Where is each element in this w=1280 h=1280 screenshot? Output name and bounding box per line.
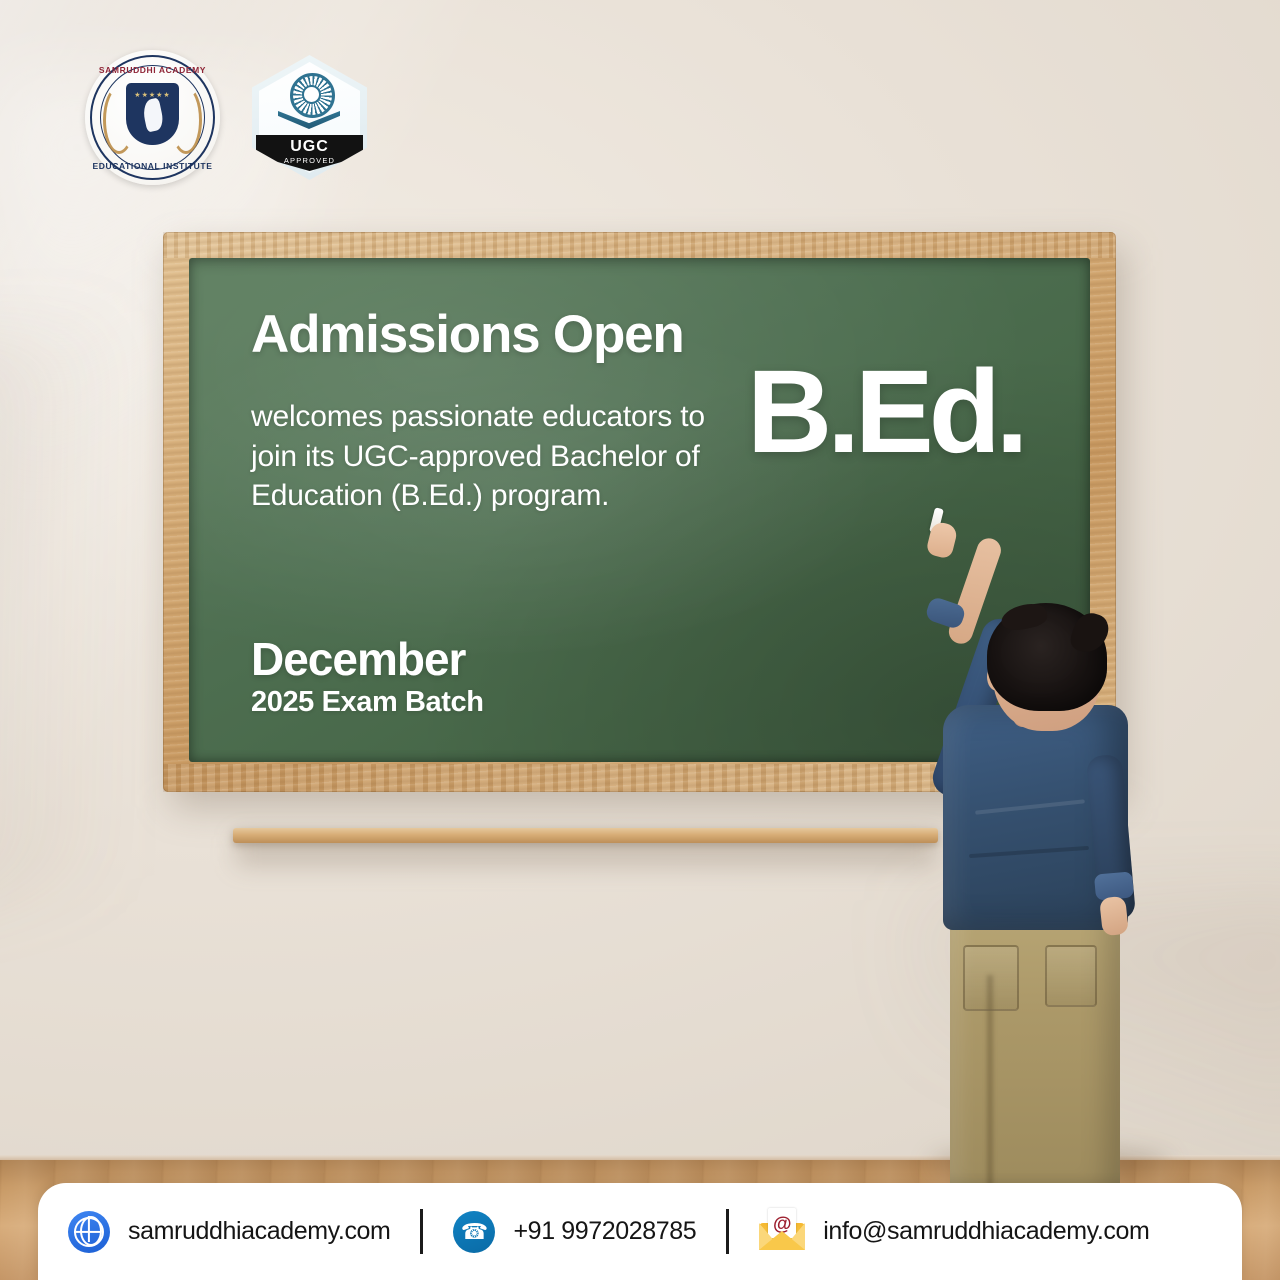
shield-icon: ★★★★★ — [126, 83, 179, 145]
globe-glyph — [74, 1217, 104, 1247]
envelope-icon: @ — [759, 1214, 805, 1250]
envelope-front — [759, 1231, 805, 1250]
academy-seal-icon: ★★★★★ SAMRUDDHI ACADEMY EDUCATIONAL INST… — [85, 50, 220, 185]
chalk-ledge-icon — [233, 828, 938, 843]
seal-top-text: SAMRUDDHI ACADEMY — [85, 65, 220, 75]
footer-email-text: info@samruddhiacademy.com — [823, 1217, 1149, 1246]
phone-glyph: ☎ — [461, 1221, 488, 1243]
frame-top-rail — [163, 232, 1116, 258]
swan-icon — [141, 97, 165, 132]
student-pants-pocket-left — [963, 945, 1019, 1011]
board-body-text: welcomes passionate educators to join it… — [251, 397, 721, 516]
chakra-hub — [302, 85, 321, 104]
page-title: Admissions Open — [251, 308, 721, 361]
batch-date-block: December 2025 Exam Batch — [251, 636, 484, 717]
footer-phone-text: +91 9972028785 — [513, 1217, 696, 1246]
logo-row: ★★★★★ SAMRUDDHI ACADEMY EDUCATIONAL INST… — [85, 50, 367, 185]
student-cargo-pants — [950, 895, 1120, 1195]
footer-website-text: samruddhiacademy.com — [128, 1217, 390, 1246]
seal-bottom-text: EDUCATIONAL INSTITUTE — [85, 161, 220, 171]
student-pants-pocket-right — [1045, 945, 1097, 1007]
footer-website-item[interactable]: samruddhiacademy.com — [38, 1211, 420, 1253]
batch-month: December — [251, 636, 484, 682]
phone-icon: ☎ — [453, 1211, 495, 1253]
globe-ellipse — [80, 1216, 102, 1246]
ugc-banner: UGC APPROVED — [256, 135, 363, 171]
student-lowered-hand — [1099, 896, 1129, 937]
board-text-block: Admissions Open welcomes passionate educ… — [251, 308, 721, 516]
ugc-title: UGC — [256, 138, 363, 156]
poster-canvas: ★★★★★ SAMRUDDHI ACADEMY EDUCATIONAL INST… — [0, 0, 1280, 1280]
ugc-approved-badge-icon: UGC APPROVED — [252, 55, 367, 180]
batch-label: 2025 Exam Batch — [251, 688, 484, 717]
contact-footer-bar: samruddhiacademy.com ☎ +91 9972028785 @ … — [38, 1183, 1242, 1280]
footer-phone-item[interactable]: ☎ +91 9972028785 — [423, 1211, 726, 1253]
student-pointing-at-board-icon — [905, 505, 1165, 1195]
program-title: B.Ed. — [747, 353, 1024, 471]
footer-email-item[interactable]: @ info@samruddhiacademy.com — [729, 1214, 1179, 1250]
globe-icon — [68, 1211, 110, 1253]
ugc-subtitle: APPROVED — [256, 156, 363, 165]
